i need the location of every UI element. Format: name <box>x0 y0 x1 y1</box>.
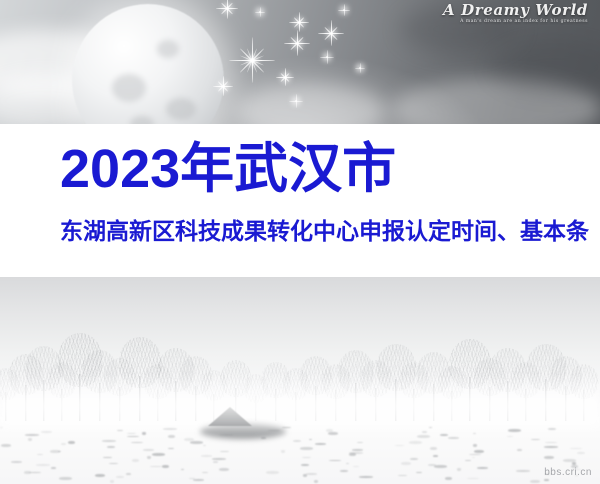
grass-tuft <box>11 461 22 463</box>
grass-tuft <box>1 444 11 447</box>
grass-tuft <box>328 432 338 435</box>
grass-tuft <box>440 434 448 436</box>
snow-haze <box>0 373 600 431</box>
caption-band: 2023年武汉市 东湖高新区科技成果转化中心申报认定时间、基本条 <box>0 124 600 277</box>
grass-tuft <box>220 451 229 452</box>
grass-tuft <box>445 477 452 480</box>
night-sky-photo: A Dreamy World A man's dream are an inde… <box>0 0 600 124</box>
grass-tuft <box>303 474 307 477</box>
grass-tuft <box>213 461 218 463</box>
grass-tuft <box>29 472 41 473</box>
grass-tuft <box>508 429 521 432</box>
grass-tuft <box>544 456 554 459</box>
grass-tuft <box>117 430 123 431</box>
grass-tuft <box>349 453 356 456</box>
snowy-field-photo: bbs.cri.cn <box>0 277 600 484</box>
grass-tuft <box>266 471 279 474</box>
grass-tuft <box>28 438 32 441</box>
grass-tuft <box>36 464 50 466</box>
screenshot-root: A Dreamy World A man's dream are an inde… <box>0 0 600 484</box>
grass-tuft <box>410 458 418 460</box>
grass-tuft <box>433 455 438 457</box>
grass-tuft <box>306 473 317 475</box>
grass-tuft <box>448 437 459 439</box>
grass-tuft <box>219 468 229 471</box>
grass-tuft <box>68 441 75 444</box>
grass-tuft <box>150 466 162 467</box>
grass-tuft <box>163 428 177 430</box>
grass-tuft <box>147 456 151 459</box>
grass-tuft <box>302 457 311 458</box>
grass-tuft <box>301 464 309 466</box>
grass-tuft <box>417 435 430 438</box>
watermark-title: A Dreamy World <box>443 2 588 18</box>
grass-tuft <box>37 454 43 455</box>
watermark-tagline: A man's dream are an index for his great… <box>443 18 588 26</box>
grass-tuft <box>95 474 105 477</box>
grass-tuft <box>102 440 116 442</box>
grass-tuft <box>530 480 540 483</box>
grass-tuft <box>531 439 540 440</box>
grass-tuft <box>315 443 326 445</box>
grass-tuft <box>430 447 437 450</box>
grass-tuft <box>261 437 266 439</box>
grass-tuft <box>116 476 124 478</box>
grass-tuft <box>474 450 484 453</box>
grass-tuft <box>544 446 558 448</box>
grass-tuft <box>516 470 530 472</box>
grass-tuft <box>395 445 404 446</box>
grass-tuft <box>352 449 363 451</box>
grass-tuft <box>25 434 39 436</box>
grass-tuft <box>398 475 407 476</box>
grass-tuft <box>107 446 115 448</box>
grass-tuft <box>473 444 477 447</box>
grass-tuft <box>132 459 139 462</box>
grass-tuft <box>127 433 136 434</box>
grass-tuft <box>544 479 549 481</box>
grass-tuft <box>282 427 291 428</box>
grass-tuft <box>517 449 522 451</box>
grass-tuft <box>340 470 348 472</box>
grass-tuft <box>422 431 427 433</box>
grass-tuft <box>58 451 61 452</box>
grass-tuft <box>359 476 373 478</box>
grass-tuft <box>110 480 114 483</box>
grass-tuft <box>434 465 447 468</box>
grass-tuft <box>51 467 56 469</box>
grass-tuft <box>61 443 66 445</box>
grass-tuft <box>162 465 169 468</box>
grass-tuft <box>457 468 461 471</box>
grass-tuft <box>300 447 313 450</box>
grass-tuft <box>193 479 204 481</box>
grass-tuft <box>152 453 165 456</box>
bbs-watermark: bbs.cri.cn <box>544 467 592 478</box>
grass-tuft <box>401 462 411 465</box>
grass-tuft <box>131 442 143 443</box>
grass-tuft <box>201 455 212 457</box>
grass-tuft <box>190 441 203 444</box>
grass-tuft <box>409 441 422 444</box>
grass-tuft <box>59 477 72 480</box>
grass-tuft <box>103 457 112 458</box>
dreamy-world-watermark: A Dreamy World A man's dream are an inde… <box>443 2 588 26</box>
grass-tuft <box>293 440 301 442</box>
grass-tuft <box>127 436 139 437</box>
page-subtitle: 东湖高新区科技成果转化中心申报认定时间、基本条 <box>60 216 589 246</box>
grass-tuft <box>212 458 226 460</box>
grass-tuft <box>109 463 118 464</box>
grass-tuft <box>477 467 488 469</box>
grass-tuft <box>577 452 585 454</box>
grass-tuft <box>219 434 233 436</box>
grass-tuft <box>314 480 318 483</box>
grass-tuft <box>142 432 146 435</box>
grass-tuft <box>548 428 556 430</box>
grass-tuft <box>41 431 52 433</box>
grass-tuft <box>126 473 131 475</box>
page-title: 2023年武汉市 <box>60 138 396 200</box>
grass-tuft <box>281 450 285 453</box>
grass-tuft <box>168 435 175 438</box>
grass-tuft <box>143 449 154 451</box>
